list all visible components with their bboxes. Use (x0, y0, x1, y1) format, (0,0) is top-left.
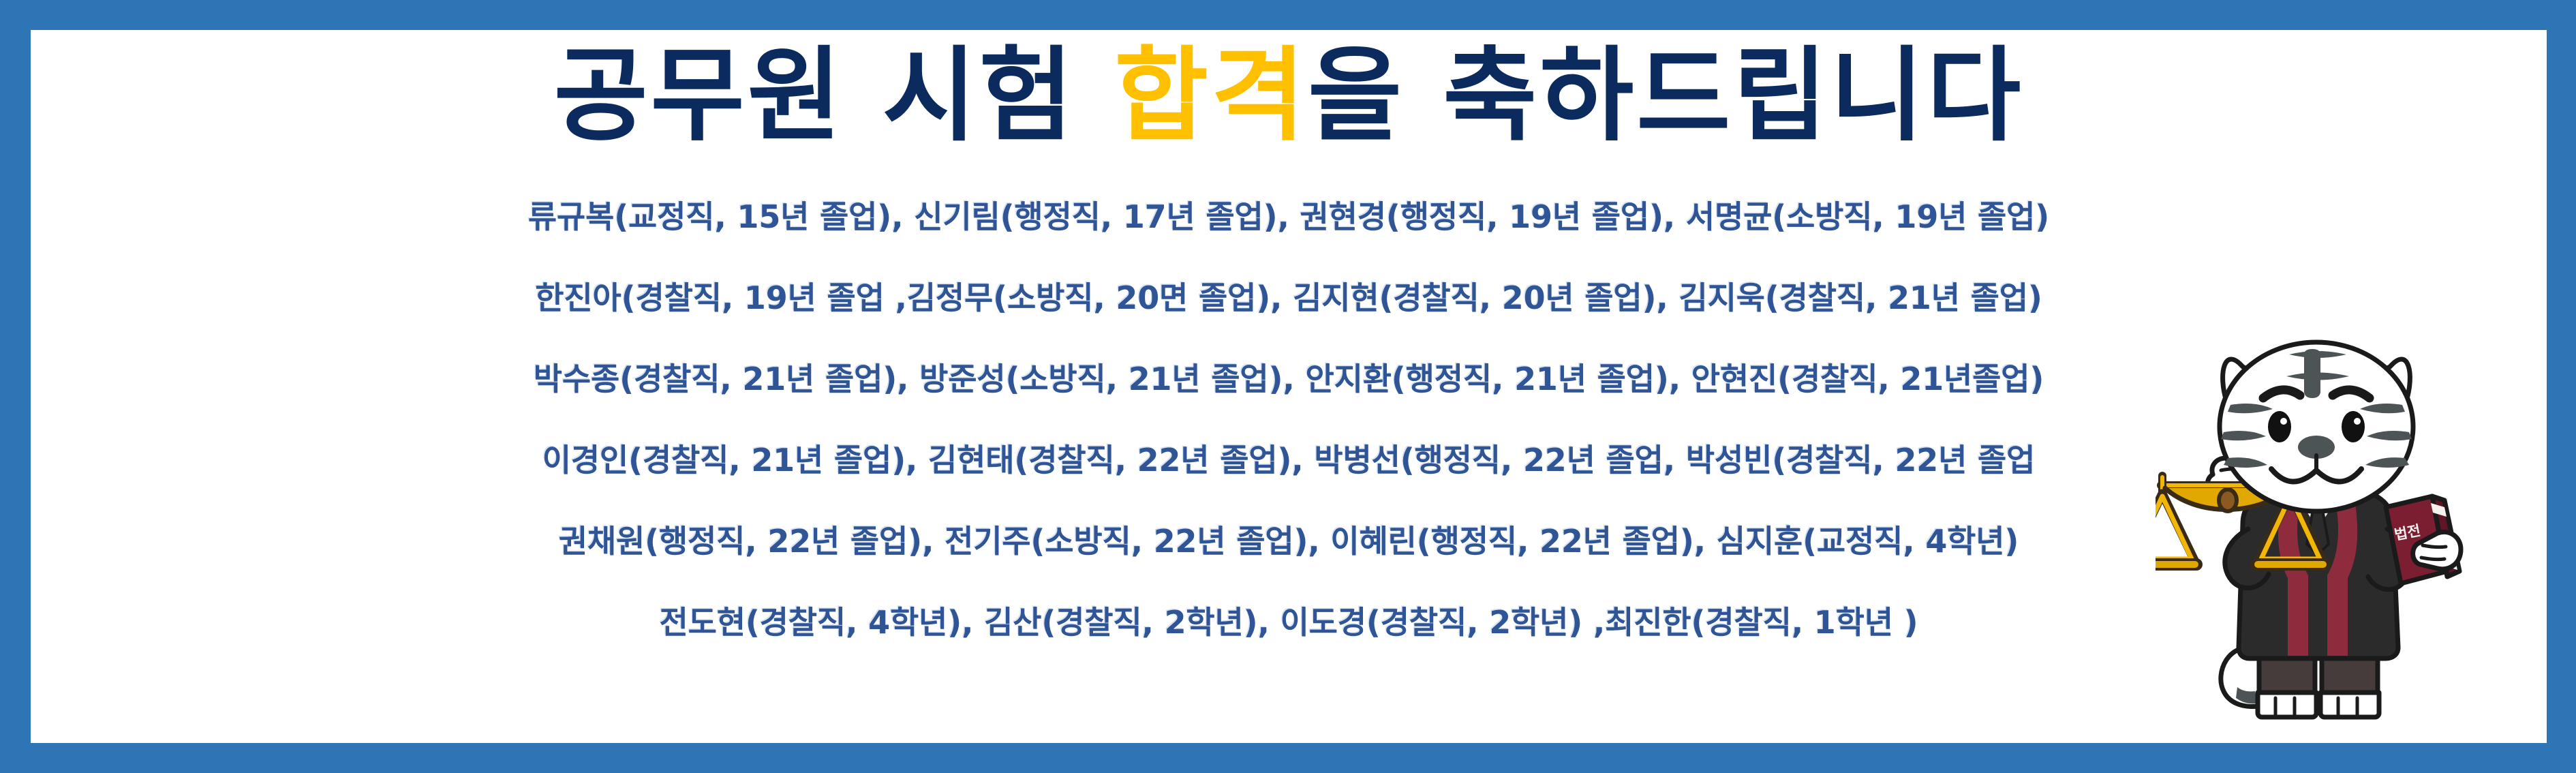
roster-line: 류규복(교정직, 15년 졸업), 신기림(행정직, 17년 졸업), 권현경(… (31, 177, 2547, 258)
title-segment-prefix: 공무원 시험 (554, 37, 1114, 155)
banner-canvas: 공무원 시험 합격을 축하드립니다 류규복(교정직, 15년 졸업), 신기림(… (31, 30, 2547, 743)
celebration-banner: 공무원 시험 합격을 축하드립니다 류규복(교정직, 15년 졸업), 신기림(… (0, 0, 2576, 773)
title-segment-highlight: 합격 (1114, 37, 1308, 155)
title-segment-suffix: 을 축하드립니다 (1308, 37, 2023, 155)
page-title: 공무원 시험 합격을 축하드립니다 (31, 31, 2547, 161)
judge-tiger-mascot-icon: 법전 (2156, 324, 2537, 743)
